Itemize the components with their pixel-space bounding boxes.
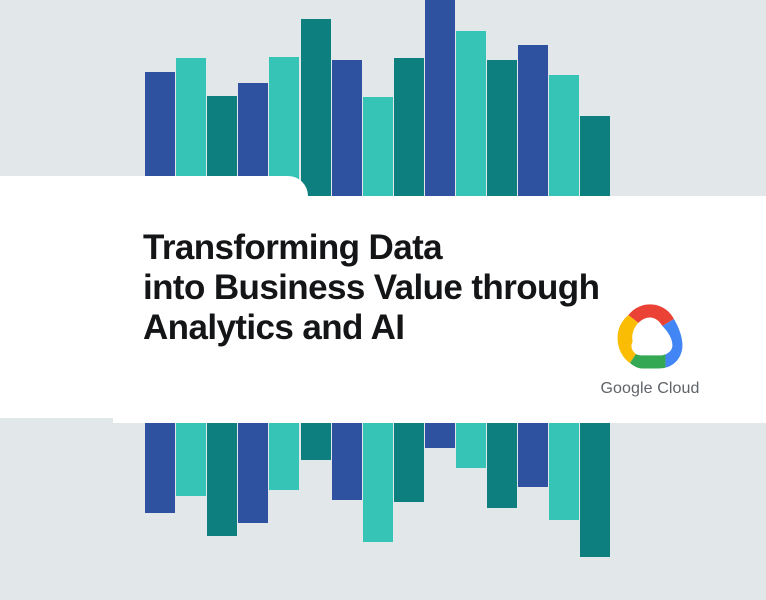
bar [332,60,362,200]
bar [487,420,517,508]
page-title: Transforming Data into Business Value th… [143,228,643,348]
page-title-line-3: Analytics and AI [143,308,643,348]
bar [425,420,455,448]
bar [176,420,206,496]
bar [363,420,393,542]
google-cloud-logo-icon [611,302,689,370]
page-title-line-1: Transforming Data [143,228,643,268]
bar [207,420,237,536]
bar [580,116,610,200]
bar [363,97,393,200]
slide-canvas: Transforming Data into Business Value th… [0,0,766,600]
bar [394,58,424,200]
logo-cloud-shape [631,329,669,355]
bar [332,420,362,500]
bar [301,420,331,460]
bar [549,420,579,520]
bar [394,420,424,502]
bar [518,45,548,200]
bar [425,0,455,200]
bar [487,60,517,200]
bar-chart-bottom [0,420,766,600]
bar [580,420,610,557]
page-title-line-2: into Business Value through [143,268,643,308]
bar [456,31,486,200]
bar [518,420,548,487]
bar [549,75,579,200]
bar [301,19,331,200]
google-cloud-wordmark: Google Cloud [592,380,708,398]
bar [145,420,175,513]
bar [269,420,299,490]
bar [456,420,486,468]
google-cloud-lockup: Google Cloud [592,302,708,398]
bar-chart-top [0,0,766,200]
bar [238,420,268,523]
